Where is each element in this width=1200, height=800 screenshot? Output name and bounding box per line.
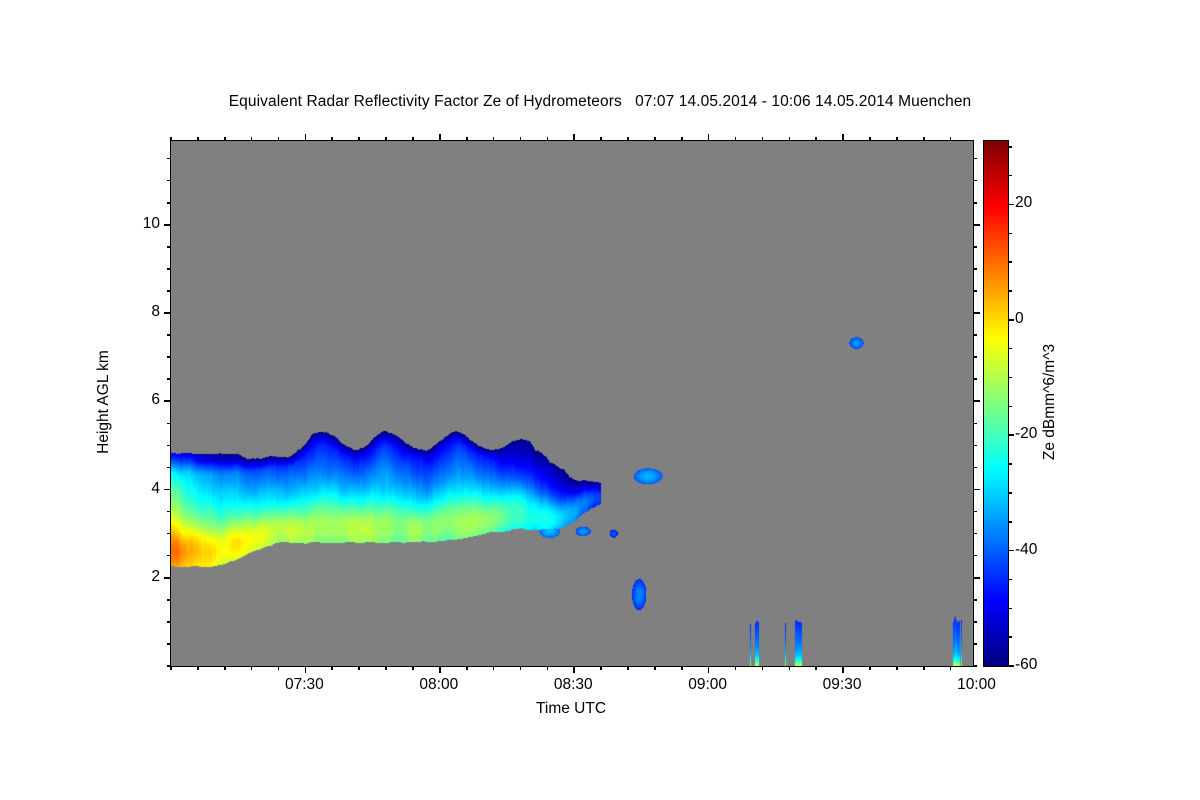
y-tick-label-6: 6 — [115, 391, 160, 409]
x-tick-label-10-00: 10:00 — [957, 676, 996, 694]
y-tick-right-9.5 — [973, 246, 977, 248]
colorbar-tick-label--60: -60 — [1015, 656, 1037, 674]
y-tick-right-10 — [973, 224, 980, 226]
y-tick-label-2: 2 — [115, 568, 160, 586]
x-tick-66 — [466, 666, 468, 670]
x-tick-90 — [573, 666, 575, 673]
x-tick-top-174 — [950, 137, 952, 141]
x-tick-132 — [762, 666, 764, 670]
colorbar-tick-15 — [1008, 233, 1012, 235]
x-tick-top-66 — [466, 137, 468, 141]
colorbar-tick-label--20: -20 — [1015, 425, 1037, 443]
y-tick-right-1 — [973, 621, 977, 623]
y-tick-right-2.5 — [973, 555, 977, 557]
y-tick-0.5 — [167, 643, 171, 645]
y-tick-1 — [167, 621, 171, 623]
y-tick-6 — [164, 400, 171, 402]
x-tick-30 — [305, 666, 307, 673]
y-tick-right-1.5 — [973, 599, 977, 601]
x-tick-top-0 — [170, 137, 172, 141]
x-tick-78 — [520, 666, 522, 670]
page-title: Equivalent Radar Reflectivity Factor Ze … — [0, 93, 1200, 111]
x-tick-36 — [331, 666, 333, 670]
y-tick-11 — [167, 180, 171, 182]
x-tick-top-48 — [385, 137, 387, 141]
y-tick-right-11 — [973, 180, 977, 182]
colorbar-tick-10 — [1008, 261, 1012, 263]
radar-reflectivity-figure: Equivalent Radar Reflectivity Factor Ze … — [0, 0, 1200, 800]
colorbar-tick--30 — [1008, 492, 1012, 494]
x-tick-72 — [493, 666, 495, 670]
y-tick-label-8: 8 — [115, 303, 160, 321]
reflectivity-heatmap-canvas — [171, 141, 973, 666]
y-tick-10.5 — [167, 202, 171, 204]
x-axis-title: Time UTC — [536, 700, 606, 718]
y-tick-right-8 — [973, 312, 980, 314]
x-tick-174 — [950, 666, 952, 670]
x-tick-top-78 — [520, 137, 522, 141]
y-tick-label-10: 10 — [115, 215, 160, 233]
y-tick-right-2 — [973, 577, 980, 579]
x-tick-12 — [224, 666, 226, 670]
x-tick-top-6 — [197, 137, 199, 141]
colorbar-title: Ze dBmm^6/m^3 — [1041, 344, 1059, 460]
x-tick-108 — [654, 666, 656, 670]
x-tick-48 — [385, 666, 387, 670]
x-tick-156 — [869, 666, 871, 670]
y-tick-3.5 — [167, 511, 171, 513]
x-tick-top-126 — [735, 137, 737, 141]
y-tick-right-4.5 — [973, 467, 977, 469]
x-tick-top-120 — [708, 134, 710, 141]
y-tick-9.5 — [167, 246, 171, 248]
x-tick-top-156 — [869, 137, 871, 141]
x-tick-label-08-30: 08:30 — [554, 676, 593, 694]
y-tick-right-0.5 — [973, 643, 977, 645]
x-tick-top-162 — [896, 137, 898, 141]
y-tick-7 — [167, 356, 171, 358]
y-tick-right-6 — [973, 400, 980, 402]
x-tick-top-18 — [251, 137, 253, 141]
x-tick-102 — [627, 666, 629, 670]
y-tick-8 — [164, 312, 171, 314]
x-tick-60 — [439, 666, 441, 673]
y-tick-right-0 — [973, 665, 977, 667]
y-tick-right-5.5 — [973, 423, 977, 425]
y-tick-2.5 — [167, 555, 171, 557]
x-tick-96 — [600, 666, 602, 670]
y-tick-right-9 — [973, 268, 977, 270]
colorbar-tick--40 — [1008, 550, 1014, 552]
y-tick-8.5 — [167, 290, 171, 292]
x-tick-top-102 — [627, 137, 629, 141]
colorbar-tick--45 — [1008, 579, 1012, 581]
x-tick-162 — [896, 666, 898, 670]
colorbar-tick--35 — [1008, 521, 1012, 523]
x-tick-top-42 — [358, 137, 360, 141]
x-tick-top-138 — [789, 137, 791, 141]
y-tick-right-3 — [973, 533, 977, 535]
x-tick-84 — [547, 666, 549, 670]
colorbar-tick--25 — [1008, 463, 1012, 465]
x-tick-top-72 — [493, 137, 495, 141]
y-tick-6.5 — [167, 378, 171, 380]
colorbar-tick-label--40: -40 — [1015, 541, 1037, 559]
y-tick-4.5 — [167, 467, 171, 469]
x-tick-top-24 — [278, 137, 280, 141]
x-tick-label-09-00: 09:00 — [688, 676, 727, 694]
colorbar-tick-25 — [1008, 175, 1012, 177]
y-tick-right-10.5 — [973, 202, 977, 204]
colorbar-tick--10 — [1008, 377, 1012, 379]
colorbar-tick-5 — [1008, 290, 1012, 292]
y-tick-right-7 — [973, 356, 977, 358]
colorbar-tick--55 — [1008, 636, 1012, 638]
x-tick-150 — [842, 666, 844, 673]
y-tick-right-3.5 — [973, 511, 977, 513]
y-tick-1.5 — [167, 599, 171, 601]
colorbar-tick-label-0: 0 — [1015, 310, 1024, 328]
y-tick-right-11.5 — [973, 158, 977, 160]
colorbar-tick-label-20: 20 — [1015, 194, 1032, 212]
y-tick-11.5 — [167, 158, 171, 160]
y-axis-title: Height AGL km — [95, 350, 113, 454]
plot-area[interactable] — [170, 140, 974, 667]
y-tick-5.5 — [167, 423, 171, 425]
colorbar — [983, 140, 1009, 667]
x-tick-126 — [735, 666, 737, 670]
y-tick-4 — [164, 489, 171, 491]
y-tick-right-5 — [973, 445, 977, 447]
x-tick-label-08-00: 08:00 — [419, 676, 458, 694]
x-tick-top-84 — [547, 137, 549, 141]
y-tick-right-7.5 — [973, 334, 977, 336]
y-tick-right-6.5 — [973, 378, 977, 380]
y-tick-right-4 — [973, 489, 980, 491]
colorbar-gradient-canvas — [984, 141, 1008, 666]
y-tick-2 — [164, 577, 171, 579]
x-tick-144 — [815, 666, 817, 670]
colorbar-tick-20 — [1008, 204, 1014, 206]
x-tick-top-96 — [600, 137, 602, 141]
colorbar-tick-0 — [1008, 319, 1014, 321]
x-tick-138 — [789, 666, 791, 670]
x-tick-120 — [708, 666, 710, 673]
x-tick-24 — [278, 666, 280, 670]
x-tick-top-90 — [573, 134, 575, 141]
x-tick-top-36 — [331, 137, 333, 141]
y-tick-5 — [167, 445, 171, 447]
colorbar-tick--50 — [1008, 608, 1012, 610]
colorbar-tick--5 — [1008, 348, 1012, 350]
x-tick-label-09-30: 09:30 — [823, 676, 862, 694]
x-tick-top-108 — [654, 137, 656, 141]
x-tick-top-144 — [815, 137, 817, 141]
x-tick-top-132 — [762, 137, 764, 141]
x-tick-114 — [681, 666, 683, 670]
colorbar-tick--60 — [1008, 665, 1014, 667]
y-tick-7.5 — [167, 334, 171, 336]
x-tick-168 — [923, 666, 925, 670]
colorbar-tick--15 — [1008, 406, 1012, 408]
y-tick-9 — [167, 268, 171, 270]
y-tick-right-8.5 — [973, 290, 977, 292]
y-tick-10 — [164, 224, 171, 226]
x-tick-top-168 — [923, 137, 925, 141]
x-tick-top-114 — [681, 137, 683, 141]
x-tick-6 — [197, 666, 199, 670]
x-tick-label-07-30: 07:30 — [285, 676, 324, 694]
x-tick-top-54 — [412, 137, 414, 141]
x-tick-18 — [251, 666, 253, 670]
y-tick-3 — [167, 533, 171, 535]
y-tick-label-4: 4 — [115, 480, 160, 498]
x-tick-top-60 — [439, 134, 441, 141]
x-tick-top-30 — [305, 134, 307, 141]
x-tick-42 — [358, 666, 360, 670]
colorbar-tick-30 — [1008, 146, 1012, 148]
x-tick-top-150 — [842, 134, 844, 141]
x-tick-54 — [412, 666, 414, 670]
x-tick-0 — [170, 666, 172, 670]
colorbar-tick--20 — [1008, 434, 1014, 436]
x-tick-top-12 — [224, 137, 226, 141]
